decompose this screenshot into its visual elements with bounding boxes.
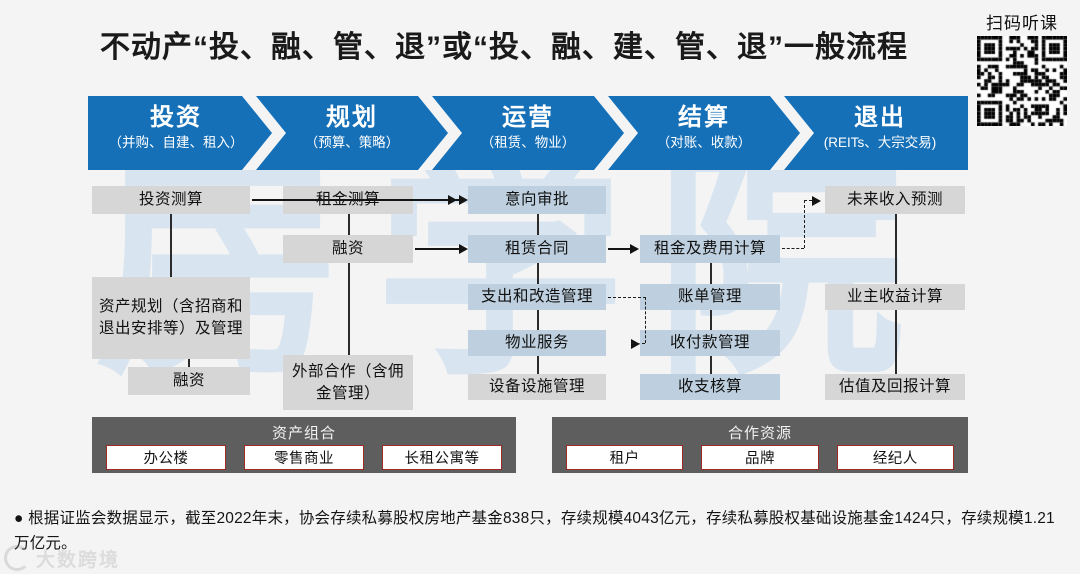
resource-bar-2: 合作资源租户品牌经纪人 — [552, 417, 968, 473]
connector-line — [348, 263, 350, 355]
footnote: ● 根据证监会数据显示，截至2022年末，协会存续私募股权房地产基金838只，存… — [14, 506, 1066, 556]
connector-line — [710, 310, 712, 330]
connector-line — [188, 359, 190, 367]
resource-chip-label: 办公楼 — [144, 447, 189, 468]
box-rent-fee-calc[interactable]: 租金及费用计算 — [640, 235, 780, 263]
flow-box-label: 物业服务 — [501, 332, 573, 354]
connector-arrow — [608, 248, 630, 250]
connector-line — [415, 199, 459, 201]
dashed-connector — [782, 248, 804, 249]
arrow-head-icon — [630, 244, 639, 254]
connector-line — [710, 263, 712, 284]
arrow-head-icon — [459, 195, 468, 205]
box-asset-planning[interactable]: 资产规划（含招商和退出安排等）及管理 — [92, 277, 250, 359]
resource-bar-caption: 资产组合 — [92, 422, 516, 443]
connector-line — [537, 214, 539, 235]
flow-box-label: 账单管理 — [674, 286, 746, 308]
box-financing-1[interactable]: 融资 — [128, 367, 250, 395]
dashed-connector — [804, 200, 812, 201]
box-property-service[interactable]: 物业服务 — [468, 330, 606, 356]
flow-box-label: 估值及回报计算 — [835, 376, 955, 398]
dashed-connector — [631, 343, 645, 344]
flow-box-label: 投资测算 — [135, 189, 207, 211]
resource-chip-label: 品牌 — [745, 447, 775, 468]
box-expense-reno[interactable]: 支出和改造管理 — [468, 284, 606, 310]
flow-box-label: 租金及费用计算 — [650, 238, 770, 260]
resource-chip-label: 租户 — [610, 447, 640, 468]
flow-box-label: 设备设施管理 — [485, 376, 589, 398]
flow-box-label: 融资 — [328, 238, 368, 260]
arrow-head-icon — [459, 244, 468, 254]
dashed-connector — [804, 200, 805, 248]
box-valuation-return[interactable]: 估值及回报计算 — [825, 374, 965, 400]
slide-canvas: 房学院 不动产“投、融、管、退”或“投、融、建、管、退”一般流程 扫码听课 投资… — [0, 0, 1080, 574]
box-intent-approval[interactable]: 意向审批 — [468, 186, 606, 214]
flow-box-label: 收支核算 — [674, 376, 746, 398]
box-bill-mgmt[interactable]: 账单管理 — [640, 284, 780, 310]
flow-box-label: 意向审批 — [501, 189, 573, 211]
arrow-head-icon — [812, 196, 821, 206]
resource-chip-label: 长租公寓等 — [405, 447, 480, 468]
dashed-connector — [645, 297, 646, 343]
connector-line — [537, 263, 539, 284]
box-external-coop[interactable]: 外部合作（含佣金管理） — [283, 355, 413, 410]
connector-line — [348, 214, 350, 235]
connector-line — [170, 214, 172, 277]
bottom-left-watermark: 大数跨境 — [4, 545, 164, 571]
flow-box-label: 业主收益计算 — [843, 286, 947, 308]
resource-chip-label: 经纪人 — [873, 447, 918, 468]
resource-bar-1: 资产组合办公楼零售商业长租公寓等 — [92, 417, 516, 473]
box-future-income[interactable]: 未来收入预测 — [825, 186, 965, 214]
resource-chip[interactable]: 租户 — [566, 445, 683, 470]
flow-box-label: 未来收入预测 — [843, 189, 947, 211]
watermark-text: 大数跨境 — [36, 545, 120, 572]
resource-chip[interactable]: 长租公寓等 — [382, 445, 502, 470]
flow-box-label: 融资 — [169, 370, 209, 392]
resource-chip[interactable]: 零售商业 — [244, 445, 364, 470]
connector-line — [895, 214, 897, 284]
watermark-logo-icon — [4, 545, 30, 571]
connector-line — [537, 310, 539, 330]
box-owner-return[interactable]: 业主收益计算 — [825, 284, 965, 310]
connector-arrow — [415, 248, 459, 250]
box-equipment-mgmt[interactable]: 设备设施管理 — [468, 374, 606, 400]
resource-chip[interactable]: 品牌 — [701, 445, 818, 470]
box-financing-2[interactable]: 融资 — [283, 235, 413, 263]
connector-line — [710, 356, 712, 374]
flow-box-label: 资产规划（含招商和退出安排等）及管理 — [92, 296, 250, 340]
flow-box-label: 收付款管理 — [666, 332, 754, 354]
resource-chip[interactable]: 经纪人 — [837, 445, 954, 470]
flow-box-label: 租赁合同 — [501, 238, 573, 260]
resource-chip[interactable]: 办公楼 — [106, 445, 226, 470]
connector-line — [895, 310, 897, 374]
resource-chip-label: 零售商业 — [274, 447, 334, 468]
box-investment-calc[interactable]: 投资测算 — [92, 186, 250, 214]
connector-line — [537, 356, 539, 374]
dashed-connector — [608, 297, 646, 298]
box-income-expense[interactable]: 收支核算 — [640, 374, 780, 400]
flow-box-label: 支出和改造管理 — [477, 286, 597, 308]
box-payment-mgmt[interactable]: 收付款管理 — [640, 330, 780, 356]
flow-box-label: 外部合作（含佣金管理） — [283, 361, 413, 405]
box-lease-contract[interactable]: 租赁合同 — [468, 235, 606, 263]
resource-bar-caption: 合作资源 — [552, 422, 968, 443]
